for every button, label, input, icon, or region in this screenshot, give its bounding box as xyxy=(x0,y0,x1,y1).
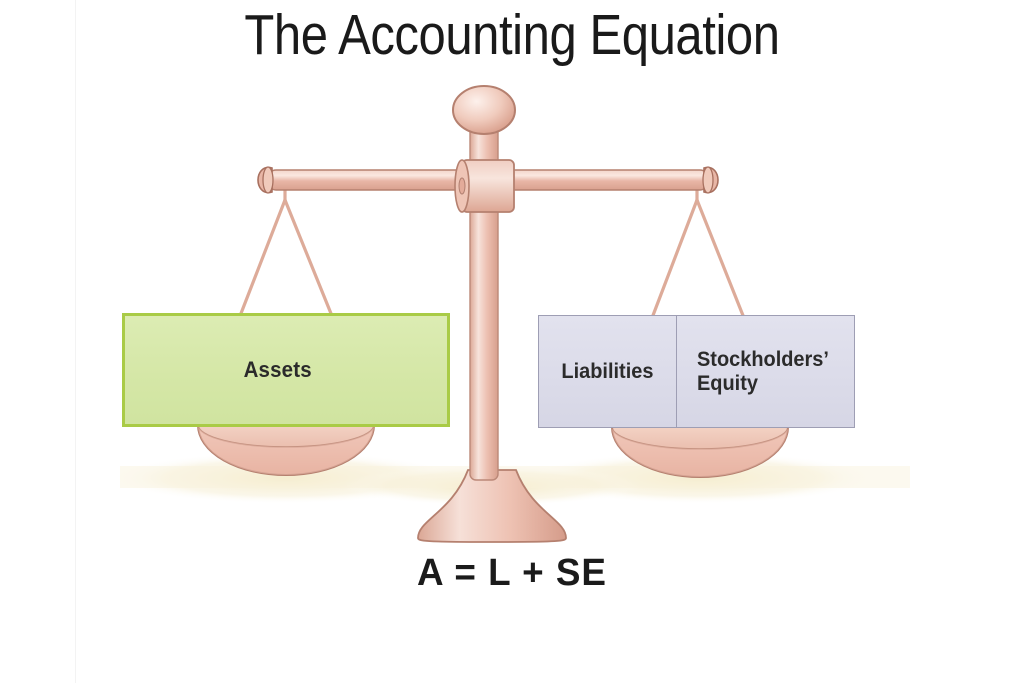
liabilities-cell[interactable]: Liabilities xyxy=(539,316,677,427)
equation-text: A = L + SE xyxy=(15,552,1008,595)
scale-hub xyxy=(455,160,514,212)
stockholders-equity-label: Stockholders’ Equity xyxy=(697,348,829,395)
liabilities-label: Liabilities xyxy=(561,360,653,384)
assets-box[interactable]: Assets xyxy=(122,313,450,427)
stockholders-equity-line1: Stockholders’ xyxy=(697,348,829,371)
stockholders-equity-line2: Equity xyxy=(697,372,758,395)
stockholders-equity-cell[interactable]: Stockholders’ Equity xyxy=(677,316,854,427)
scale-finial xyxy=(453,86,515,134)
liabilities-stockholders-equity-box[interactable]: Liabilities Stockholders’ Equity xyxy=(538,315,855,428)
accounting-equation-slide: The Accounting Equation xyxy=(0,0,1024,683)
assets-label: Assets xyxy=(244,357,312,383)
